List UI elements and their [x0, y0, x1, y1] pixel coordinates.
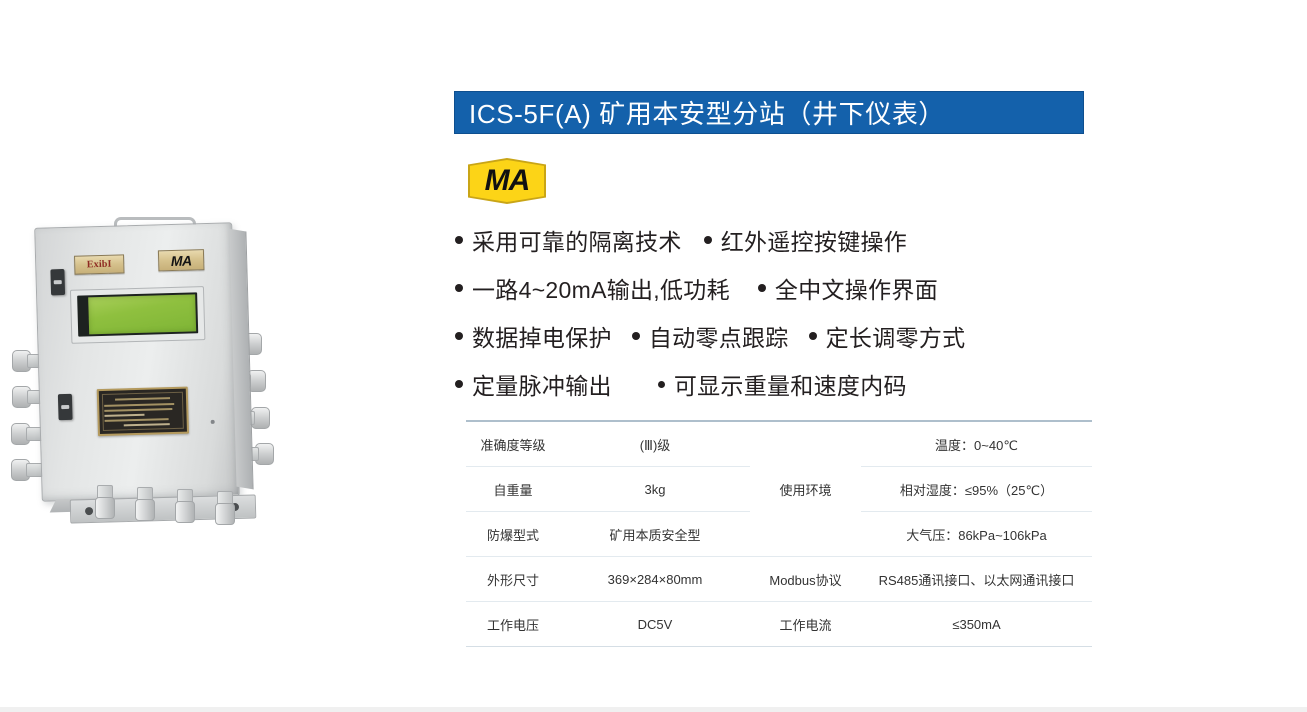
- door-latch-top: [50, 269, 65, 295]
- lcd-screen: [88, 294, 196, 334]
- ma-badge-label: MA: [485, 166, 530, 196]
- bullet-icon: [632, 332, 640, 340]
- spec-label: 自重量: [466, 467, 560, 512]
- device-ex-plate-label: ExibI: [87, 259, 112, 271]
- spec-label-environment: 使用环境: [750, 421, 861, 557]
- lcd-bezel: [77, 292, 198, 336]
- bullet-icon: [455, 380, 463, 388]
- feature-label: 定长调零方式: [826, 319, 966, 353]
- feature-item: 可显示重量和速度内码: [658, 367, 907, 401]
- enclosure-side-wall: [229, 229, 253, 490]
- feature-label: 可显示重量和速度内码: [674, 367, 907, 401]
- product-title-banner: ICS-5F(A) 矿用本安型分站（井下仪表）: [454, 91, 1084, 134]
- feature-item: 定长调零方式: [809, 319, 966, 353]
- feature-row: 数据掉电保护 自动零点跟踪 定长调零方式: [455, 312, 1105, 360]
- bullet-icon: [455, 284, 463, 292]
- table-row: 工作电压 DC5V 工作电流 ≤350mA: [466, 602, 1092, 647]
- feature-item: 数据掉电保护: [455, 319, 612, 353]
- feature-item: 红外遥控按键操作: [704, 223, 907, 257]
- device-ma-plate: MA: [158, 249, 205, 271]
- spec-label: 外形尺寸: [466, 557, 560, 602]
- feature-item: 一路4~20mA输出,低功耗: [455, 271, 730, 305]
- specification-table: 准确度等级 (Ⅲ)级 使用环境 温度：0~40℃ 自重量 3kg 相对湿度：≤9…: [466, 420, 1092, 647]
- spec-value: 矿用本质安全型: [560, 512, 750, 557]
- feature-row: 定量脉冲输出 可显示重量和速度内码: [455, 360, 1105, 408]
- feature-label: 一路4~20mA输出,低功耗: [472, 271, 730, 305]
- enclosure-body: ExibI MA: [34, 222, 240, 501]
- spec-value: 369×284×80mm: [560, 557, 750, 602]
- spec-value: ≤350mA: [861, 602, 1092, 647]
- cable-gland-bottom-4: [213, 491, 235, 525]
- cable-gland-left-2: [12, 386, 42, 406]
- bullet-icon: [758, 284, 766, 292]
- cable-gland-left-4: [11, 459, 41, 479]
- spec-value: 大气压：86kPa~106kPa: [861, 512, 1092, 557]
- cable-gland-bottom-1: [93, 485, 115, 519]
- specification-table-wrapper: 准确度等级 (Ⅲ)级 使用环境 温度：0~40℃ 自重量 3kg 相对湿度：≤9…: [466, 420, 1092, 647]
- table-row: 准确度等级 (Ⅲ)级 使用环境 温度：0~40℃: [466, 421, 1092, 467]
- spec-label: Modbus协议: [750, 557, 861, 602]
- table-row: 外形尺寸 369×284×80mm Modbus协议 RS485通讯接口、以太网…: [466, 557, 1092, 602]
- bullet-icon: [704, 236, 712, 244]
- door-latch-bottom: [58, 394, 73, 420]
- feature-item: 定量脉冲输出: [455, 367, 612, 401]
- bullet-icon: [455, 236, 463, 244]
- cable-gland-left-3: [11, 423, 41, 443]
- photo-stage: ExibI MA: [18, 213, 314, 538]
- ma-badge-face: MA: [470, 160, 544, 202]
- feature-label: 全中文操作界面: [775, 271, 938, 305]
- feature-list: 采用可靠的隔离技术 红外遥控按键操作 一路4~20mA输出,低功耗 全中文操作界…: [455, 216, 1105, 408]
- feature-label: 自动零点跟踪: [649, 319, 789, 353]
- certification-badge-row: Exib I Mb MA: [455, 158, 546, 204]
- spec-value: 温度：0~40℃: [861, 421, 1092, 467]
- feature-label: 数据掉电保护: [472, 319, 612, 353]
- bullet-icon: [455, 332, 463, 340]
- cable-gland-bottom-2: [133, 487, 155, 521]
- ma-certification-badge: MA: [468, 158, 546, 204]
- feature-row: 采用可靠的隔离技术 红外遥控按键操作: [455, 216, 1105, 264]
- product-photo: ExibI MA: [18, 213, 314, 538]
- feature-item: 全中文操作界面: [758, 271, 938, 305]
- spec-label: 工作电压: [466, 602, 560, 647]
- feature-label: 采用可靠的隔离技术: [472, 223, 682, 257]
- spec-value: 3kg: [560, 467, 750, 512]
- page-bottom-rule: [0, 707, 1307, 712]
- cable-gland-bottom-3: [173, 489, 195, 523]
- feature-label: 红外遥控按键操作: [721, 223, 907, 257]
- mounting-hole-left: [85, 507, 93, 515]
- bullet-icon: [809, 332, 817, 340]
- lcd-display-frame: [70, 286, 205, 344]
- spec-label: 工作电流: [750, 602, 861, 647]
- feature-row: 一路4~20mA输出,低功耗 全中文操作界面: [455, 264, 1105, 312]
- bullet-icon: [658, 381, 665, 388]
- spec-value: RS485通讯接口、以太网通讯接口: [861, 557, 1092, 602]
- spec-value: 相对湿度：≤95%（25℃）: [861, 467, 1092, 512]
- feature-label: 定量脉冲输出: [472, 367, 612, 401]
- device-ma-plate-label: MA: [171, 252, 192, 269]
- device-nameplate: [97, 387, 189, 437]
- feature-item: 采用可靠的隔离技术: [455, 223, 682, 257]
- spec-value: DC5V: [560, 602, 750, 647]
- spec-label: 防爆型式: [466, 512, 560, 557]
- device-ex-plate: ExibI: [74, 254, 125, 274]
- spec-value: (Ⅲ)级: [560, 421, 750, 467]
- spec-label: 准确度等级: [466, 421, 560, 467]
- page-title: ICS-5F(A) 矿用本安型分站（井下仪表）: [455, 94, 945, 131]
- feature-item: 自动零点跟踪: [632, 319, 789, 353]
